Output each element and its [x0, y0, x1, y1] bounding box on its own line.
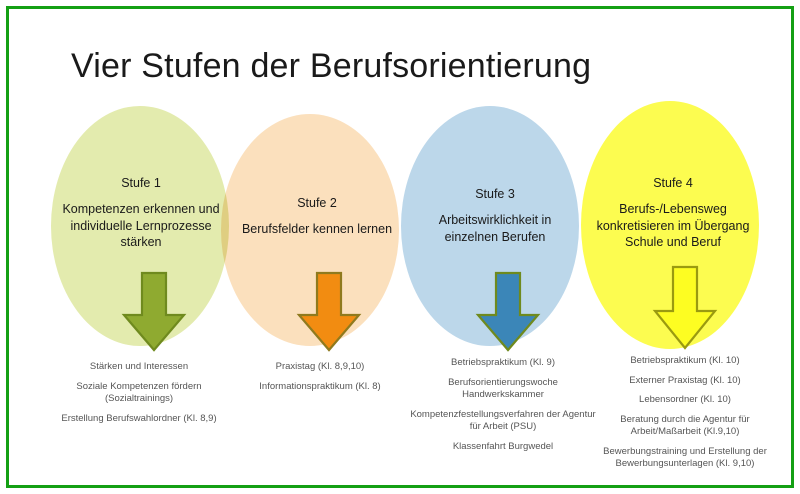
stage-items-4: Betriebspraktikum (Kl. 10) Externer Prax… [587, 355, 783, 471]
list-item: Betriebspraktikum (Kl. 9) [409, 357, 597, 370]
list-item: Bewerbungstraining und Erstellung der Be… [587, 446, 783, 471]
list-item: Betriebspraktikum (Kl. 10) [587, 355, 783, 368]
stage-items-2: Praxistag (Kl. 8,9,10) Informationsprakt… [231, 361, 409, 393]
stage-arrow-2-icon [291, 271, 367, 353]
stage-arrow-3-icon [470, 271, 546, 353]
list-item: Stärken und Interessen [51, 361, 227, 374]
list-item: Externer Praxistag (Kl. 10) [587, 375, 783, 388]
stage-items-1: Stärken und Interessen Soziale Kompetenz… [51, 361, 227, 425]
list-item: Kompetenzfestellungsverfahren der Agentu… [409, 409, 597, 434]
list-item: Beratung durch die Agentur für Arbeit/Ma… [587, 414, 783, 439]
list-item: Erstellung Berufswahlordner (Kl. 8,9) [51, 413, 227, 426]
list-item: Klassenfahrt Burgwedel [409, 441, 597, 454]
list-item: Informationspraktikum (Kl. 8) [231, 381, 409, 394]
stage-items-3: Betriebspraktikum (Kl. 9) Berufsorientie… [409, 357, 597, 453]
stage-arrow-4-icon [647, 265, 723, 351]
list-item: Praxistag (Kl. 8,9,10) [231, 361, 409, 374]
diagram-frame: Vier Stufen der Berufsorientierung Stufe… [6, 6, 794, 488]
list-item: Berufsorientierungswoche Handwerkskammer [409, 377, 597, 402]
list-item: Lebensordner (Kl. 10) [587, 394, 783, 407]
stage-arrow-1-icon [116, 271, 192, 353]
list-item: Soziale Kompetenzen fördern (Sozialtrain… [51, 381, 227, 406]
